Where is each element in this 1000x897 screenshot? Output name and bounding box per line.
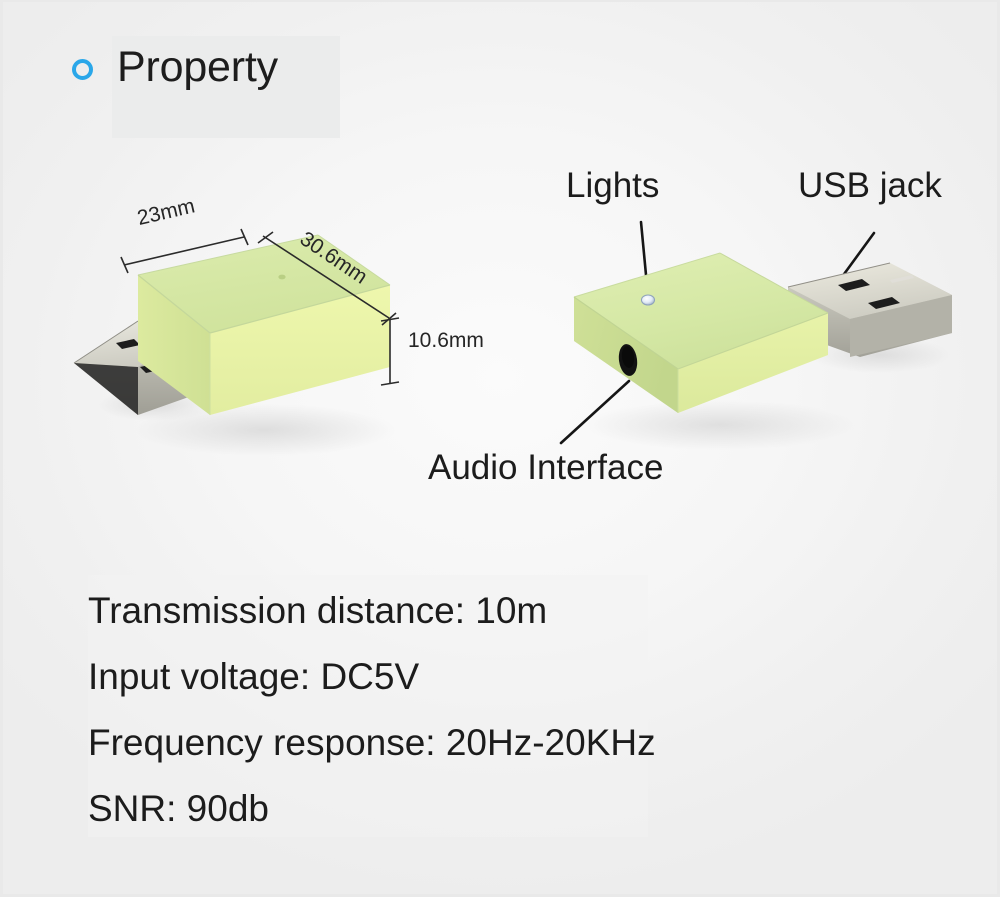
dimension-label-height: 10.6mm: [408, 330, 484, 351]
edge-left: [0, 0, 3, 897]
callout-label-lights: Lights: [566, 168, 659, 203]
header: Property: [72, 46, 278, 89]
spec-item: SNR: 90db: [88, 776, 788, 842]
spec-item: Frequency response: 20Hz-20KHz: [88, 710, 788, 776]
callout-label-usb-jack: USB jack: [798, 168, 942, 203]
circle-outline-icon: [72, 59, 93, 80]
callout-label-audio-interface: Audio Interface: [428, 450, 663, 485]
product-photo-right: [560, 235, 960, 455]
page-title: Property: [117, 46, 278, 89]
edge-top: [0, 0, 1000, 2]
product-photo-left: [60, 215, 420, 475]
spec-item: Transmission distance: 10m: [88, 578, 788, 644]
specs-list: Transmission distance: 10m Input voltage…: [88, 578, 788, 842]
product-infographic: Property: [0, 0, 1000, 897]
spec-item: Input voltage: DC5V: [88, 644, 788, 710]
product-body-right: [574, 253, 828, 413]
